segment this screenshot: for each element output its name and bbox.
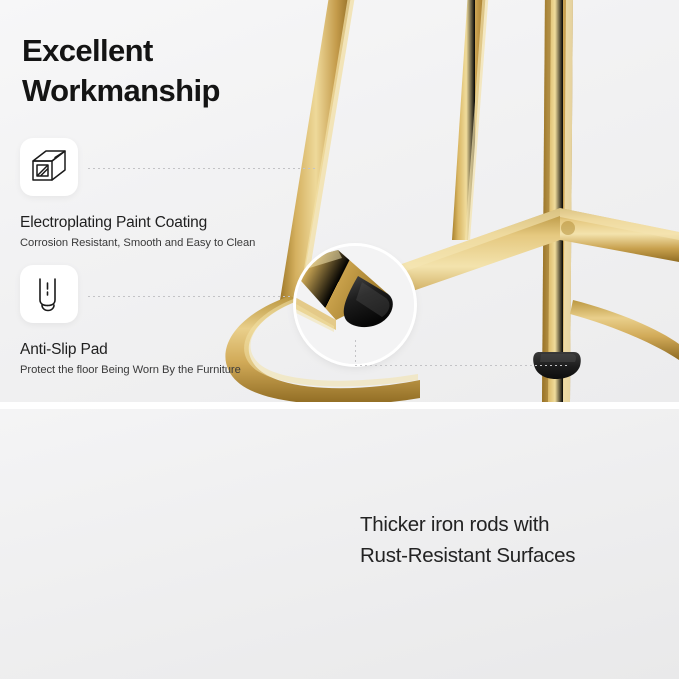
feature-title: Anti-Slip Pad <box>20 341 241 359</box>
top-panel: Excellent Workmanship <box>0 0 679 402</box>
leader-line-magnifier-vertical <box>355 340 356 366</box>
bottom-caption: Thicker iron rods with Rust-Resistant Su… <box>360 509 660 571</box>
chair-leg-pad-icon <box>29 274 69 314</box>
panel-divider <box>0 402 679 409</box>
page-title-line-1: Excellent <box>22 31 322 71</box>
feature-subtitle: Protect the floor Being Worn By the Furn… <box>20 364 241 376</box>
bottom-caption-line-1: Thicker iron rods with <box>360 509 660 540</box>
bottom-panel: Thicker iron rods with Rust-Resistant Su… <box>0 409 679 679</box>
hollow-square-tube-icon <box>29 147 69 187</box>
feature-subtitle: Corrosion Resistant, Smooth and Easy to … <box>20 237 255 249</box>
page-title-line-2: Workmanship <box>22 71 322 111</box>
bottom-caption-line-2: Rust-Resistant Surfaces <box>360 540 660 571</box>
chair-footrest-rail-right <box>560 208 679 262</box>
product-feature-infographic: Excellent Workmanship <box>0 0 679 679</box>
feature-icon-card <box>20 265 78 323</box>
chair-footrest-ring-rear <box>570 300 679 360</box>
leader-line-magnifier-horizontal <box>355 365 567 366</box>
feature-anti-slip-pad: Anti-Slip Pad Protect the floor Being Wo… <box>20 265 241 376</box>
feature-title: Electroplating Paint Coating <box>20 214 255 232</box>
page-title: Excellent Workmanship <box>22 31 322 112</box>
feature-icon-card <box>20 138 78 196</box>
feature-electroplating-paint-coating: Electroplating Paint Coating Corrosion R… <box>20 138 255 249</box>
chair-rail-joint <box>561 221 575 235</box>
chair-support-inner <box>452 0 489 240</box>
chair-leg-front-right <box>542 0 573 402</box>
